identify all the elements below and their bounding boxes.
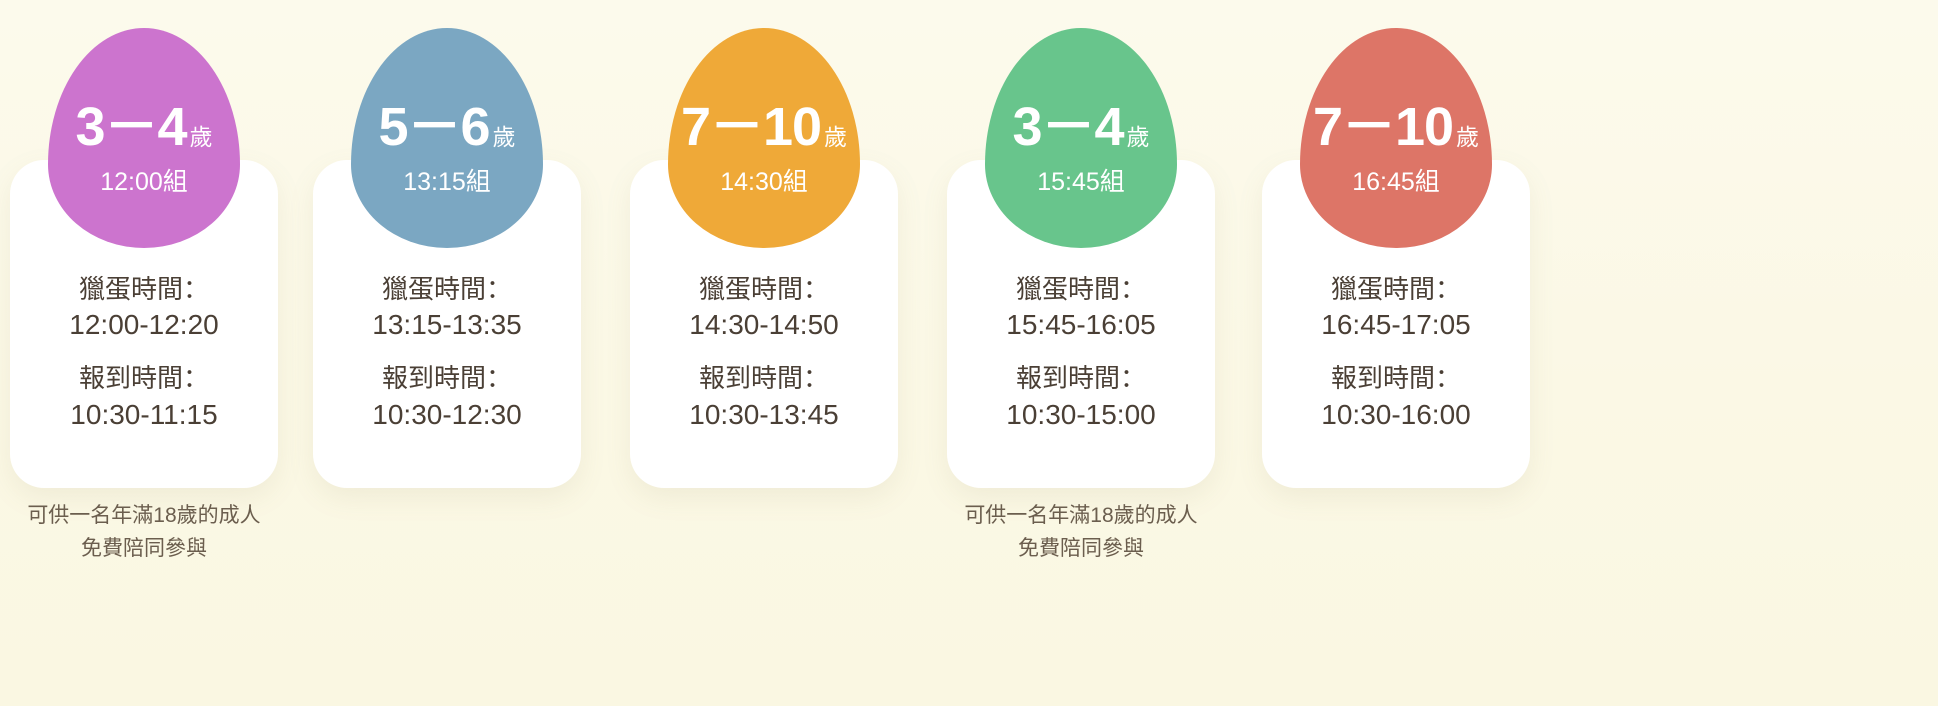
card-details: 獵蛋時間：16:45-17:05報到時間：10:30-16:00: [1262, 272, 1530, 433]
hunt-time-label: 獵蛋時間：: [10, 272, 278, 307]
egg-group-label: 16:45組: [1352, 170, 1440, 195]
egg-group-label: 15:45組: [1037, 170, 1125, 195]
egg-age-range: 7－10: [681, 100, 821, 154]
egg-age-label: 7－10歲: [1313, 100, 1479, 154]
hunt-time-value: 14:30-14:50: [630, 307, 898, 343]
hunt-time-label: 獵蛋時間：: [947, 272, 1215, 307]
hunt-time-value: 16:45-17:05: [1262, 307, 1530, 343]
egg-age-suffix: 歲: [190, 126, 213, 149]
hunt-time-label: 獵蛋時間：: [630, 272, 898, 307]
egg-age-range: 5－6: [378, 100, 489, 154]
session-card-2[interactable]: 5－6歲13:15組獵蛋時間：13:15-13:35報到時間：10:30-12:…: [313, 0, 581, 706]
detail-spacer: [313, 343, 581, 361]
hunt-time-value: 13:15-13:35: [313, 307, 581, 343]
checkin-time-value: 10:30-12:30: [313, 397, 581, 433]
session-card-3[interactable]: 7－10歲14:30組獵蛋時間：14:30-14:50報到時間：10:30-13…: [630, 0, 898, 706]
companion-note: 可供一名年滿18歲的成人免費陪同參與: [935, 500, 1227, 565]
session-cards-board: 3－4歲12:00組獵蛋時間：12:00-12:20報到時間：10:30-11:…: [0, 0, 1938, 706]
card-details: 獵蛋時間：15:45-16:05報到時間：10:30-15:00: [947, 272, 1215, 433]
egg-age-suffix: 歲: [1456, 126, 1479, 149]
checkin-time-label: 報到時間：: [313, 361, 581, 396]
session-card-5[interactable]: 7－10歲16:45組獵蛋時間：16:45-17:05報到時間：10:30-16…: [1262, 0, 1530, 706]
egg-age-label: 3－4歲: [75, 100, 212, 154]
card-details: 獵蛋時間：12:00-12:20報到時間：10:30-11:15: [10, 272, 278, 433]
egg-group-label: 14:30組: [720, 170, 808, 195]
session-card-1[interactable]: 3－4歲12:00組獵蛋時間：12:00-12:20報到時間：10:30-11:…: [10, 0, 278, 706]
card-details: 獵蛋時間：13:15-13:35報到時間：10:30-12:30: [313, 272, 581, 433]
hunt-time-label: 獵蛋時間：: [313, 272, 581, 307]
checkin-time-value: 10:30-15:00: [947, 397, 1215, 433]
egg-group-label: 13:15組: [403, 170, 491, 195]
companion-note-line-2: 免費陪同參與: [935, 533, 1227, 566]
egg-badge: 7－10歲16:45組: [1300, 28, 1492, 248]
hunt-time-value: 12:00-12:20: [10, 307, 278, 343]
companion-note: 可供一名年滿18歲的成人免費陪同參與: [0, 500, 290, 565]
companion-note-line-1: 可供一名年滿18歲的成人: [0, 500, 290, 533]
egg-badge: 7－10歲14:30組: [668, 28, 860, 248]
companion-note-line-1: 可供一名年滿18歲的成人: [935, 500, 1227, 533]
hunt-time-value: 15:45-16:05: [947, 307, 1215, 343]
egg-age-suffix: 歲: [824, 126, 847, 149]
session-card-4[interactable]: 3－4歲15:45組獵蛋時間：15:45-16:05報到時間：10:30-15:…: [947, 0, 1215, 706]
checkin-time-label: 報到時間：: [1262, 361, 1530, 396]
checkin-time-value: 10:30-11:15: [10, 397, 278, 433]
checkin-time-label: 報到時間：: [947, 361, 1215, 396]
companion-note-line-2: 免費陪同參與: [0, 533, 290, 566]
egg-age-range: 3－4: [1012, 100, 1123, 154]
egg-age-range: 3－4: [75, 100, 186, 154]
egg-badge: 3－4歲12:00組: [48, 28, 240, 248]
checkin-time-value: 10:30-13:45: [630, 397, 898, 433]
detail-spacer: [10, 343, 278, 361]
card-details: 獵蛋時間：14:30-14:50報到時間：10:30-13:45: [630, 272, 898, 433]
egg-age-label: 7－10歲: [681, 100, 847, 154]
egg-badge: 5－6歲13:15組: [351, 28, 543, 248]
egg-age-suffix: 歲: [493, 126, 516, 149]
detail-spacer: [1262, 343, 1530, 361]
detail-spacer: [947, 343, 1215, 361]
checkin-time-label: 報到時間：: [630, 361, 898, 396]
egg-group-label: 12:00組: [100, 170, 188, 195]
checkin-time-label: 報到時間：: [10, 361, 278, 396]
egg-age-label: 3－4歲: [1012, 100, 1149, 154]
checkin-time-value: 10:30-16:00: [1262, 397, 1530, 433]
egg-age-range: 7－10: [1313, 100, 1453, 154]
hunt-time-label: 獵蛋時間：: [1262, 272, 1530, 307]
egg-age-suffix: 歲: [1127, 126, 1150, 149]
egg-age-label: 5－6歲: [378, 100, 515, 154]
detail-spacer: [630, 343, 898, 361]
egg-badge: 3－4歲15:45組: [985, 28, 1177, 248]
